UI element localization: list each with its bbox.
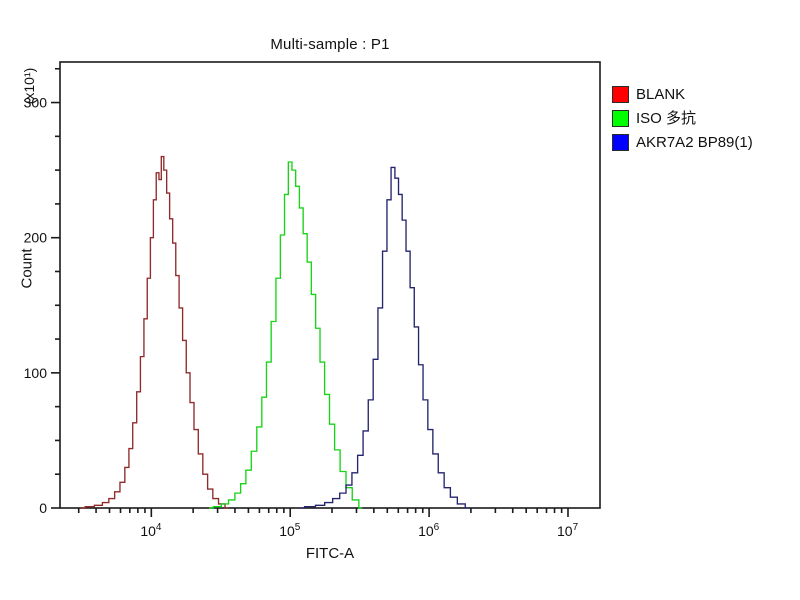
y-axis-label: Count	[19, 229, 36, 309]
legend-label: BLANK	[636, 86, 685, 103]
legend-item[interactable]: ISO 多抗	[612, 108, 753, 129]
x-axis: 104105106107	[79, 508, 579, 539]
svg-text:100: 100	[24, 365, 48, 381]
legend-item[interactable]: BLANK	[612, 84, 753, 105]
legend-swatch-iso	[612, 110, 629, 127]
svg-text:107: 107	[557, 522, 579, 539]
svg-text:0: 0	[39, 500, 47, 516]
svg-text:104: 104	[140, 522, 162, 539]
svg-text:106: 106	[418, 522, 440, 539]
y-axis-multiplier: (x10¹)	[21, 51, 37, 121]
x-axis-label: FITC-A	[60, 545, 600, 562]
legend-swatch-akr7a2	[612, 134, 629, 151]
plot-frame	[60, 62, 600, 508]
series-curves	[81, 157, 470, 508]
svg-text:105: 105	[279, 522, 301, 539]
legend-item[interactable]: AKR7A2 BP89(1)	[612, 132, 753, 153]
flow-cytometry-histogram: Multi-sample : P1 0100200300 10410510610…	[0, 0, 800, 600]
legend-label: ISO 多抗	[636, 110, 696, 127]
legend: BLANK ISO 多抗 AKR7A2 BP89(1)	[612, 84, 753, 153]
legend-swatch-blank	[612, 86, 629, 103]
legend-label: AKR7A2 BP89(1)	[636, 134, 753, 151]
